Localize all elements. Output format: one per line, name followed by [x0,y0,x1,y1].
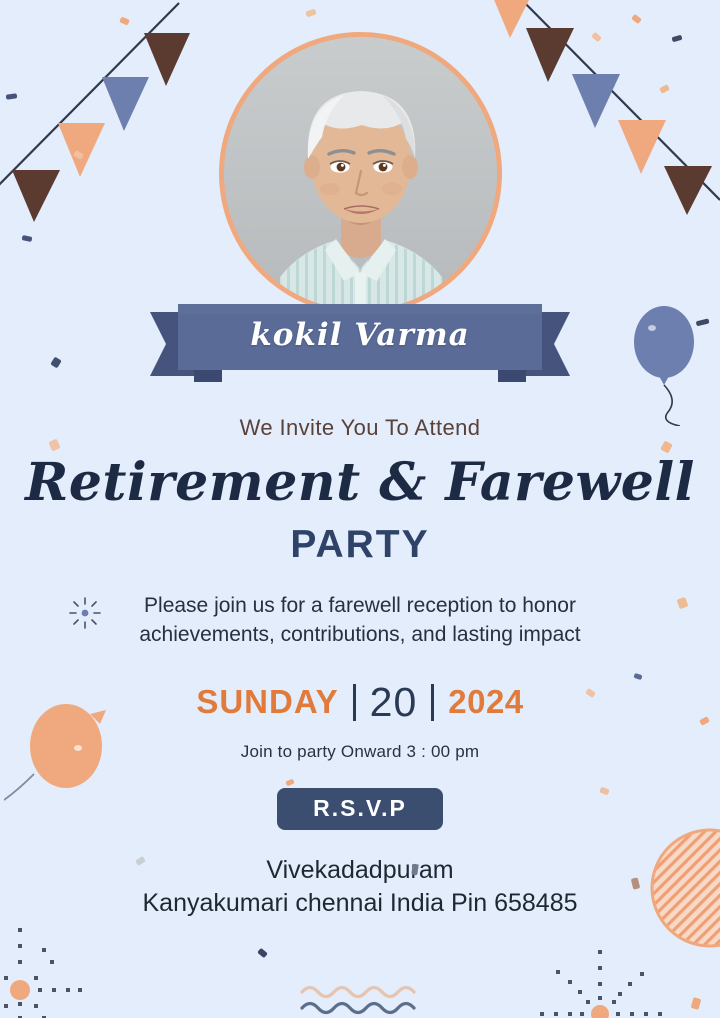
date-separator-1 [353,684,356,721]
confetti-piece [257,948,268,958]
venue-address: Vivekadadpuram Kanyakumari chennai India… [0,854,720,920]
rsvp-badge[interactable]: R.S.V.P [277,788,443,830]
portrait-image [224,37,497,310]
confetti-piece [50,357,62,369]
party-subtitle: PARTY [0,523,720,567]
striped-circle-icon [640,826,720,956]
description-line-1: Please join us for a farewell reception … [60,592,660,620]
avatar [219,32,502,315]
event-description: Please join us for a farewell reception … [0,592,720,649]
address-line-1: Vivekadadpuram [0,854,720,887]
description-line-2: achievements, contributions, and lasting… [60,621,660,649]
date-separator-2 [431,684,434,721]
date-year: 2024 [448,683,523,721]
name-ribbon: kokil Varma [150,302,570,388]
wavy-lines-icon [300,982,428,1016]
balloon-icon [628,296,720,426]
address-line-2: Kanyakumari chennai India Pin 658485 [0,887,720,920]
confetti-piece [22,235,33,242]
confetti-piece [305,9,316,18]
invite-line: We Invite You To Attend [0,415,720,441]
bunting-flags-icon [484,0,720,215]
date-number: 20 [370,679,418,726]
date-day: SUNDAY [196,683,338,721]
sparkle-icon [68,596,102,630]
page-title: Retirement & Farewell [0,455,720,511]
invitation-content: We Invite You To Attend Retirement & Far… [0,415,720,920]
invitation-card: kokil Varma We Invite You To Attend Reti… [0,0,720,1018]
honoree-name: kokil Varma [150,302,570,368]
starburst-dots-icon [0,918,140,1018]
balloon-icon [4,688,124,838]
